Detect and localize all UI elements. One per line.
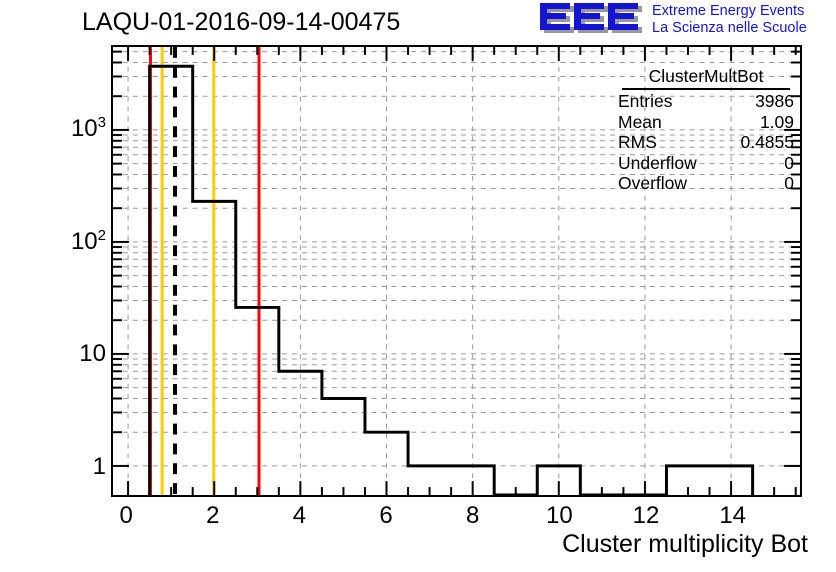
eee-logo-line1: Extreme Energy Events — [652, 3, 807, 20]
eee-logo-line2: La Scienza nelle Scuole — [652, 20, 807, 37]
stats-row-value: 0 — [784, 153, 794, 174]
root-canvas: LAQU-01-2016-09-14-00475 Extreme Energy … — [0, 0, 836, 572]
x-tick-label-2: 2 — [206, 502, 219, 530]
stats-row-key: Mean — [618, 112, 662, 133]
x-tick-label-14: 14 — [719, 502, 746, 530]
x-axis-title: Cluster multiplicity Bot — [562, 530, 808, 559]
stats-box: ClusterMultBot Entries3986Mean1.09RMS0.4… — [616, 66, 796, 194]
stats-row-underflow: Underflow0 — [616, 153, 796, 174]
stats-row-mean: Mean1.09 — [616, 112, 796, 133]
stats-box-title: ClusterMultBot — [622, 66, 790, 90]
stats-row-key: Entries — [618, 91, 672, 112]
stats-row-value: 1.09 — [760, 112, 794, 133]
y-tick-label-2: 102 — [71, 227, 106, 256]
stats-row-key: Underflow — [618, 153, 697, 174]
eee-logo: Extreme Energy Events La Scienza nelle S… — [536, 2, 834, 38]
y-axis-tick-labels: 110102103 — [18, 0, 106, 572]
x-tick-label-6: 6 — [379, 502, 392, 530]
x-tick-label-8: 8 — [466, 502, 479, 530]
stats-row-key: RMS — [618, 132, 657, 153]
y-tick-label-3: 103 — [71, 114, 106, 143]
x-tick-label-10: 10 — [546, 502, 573, 530]
x-tick-label-4: 4 — [293, 502, 306, 530]
y-tick-label-1: 10 — [79, 340, 106, 368]
y-tick-label-0: 1 — [93, 453, 106, 481]
stats-row-rms: RMS0.4855 — [616, 132, 796, 153]
stats-box-rows: Entries3986Mean1.09RMS0.4855Underflow0Ov… — [616, 91, 796, 194]
stats-row-value: 0 — [784, 173, 794, 194]
eee-logo-letters-icon — [536, 2, 646, 36]
page-title: LAQU-01-2016-09-14-00475 — [82, 8, 400, 37]
x-tick-label-12: 12 — [633, 502, 660, 530]
stats-row-value: 3986 — [755, 91, 794, 112]
stats-row-overflow: Overflow0 — [616, 173, 796, 194]
eee-logo-text: Extreme Energy Events La Scienza nelle S… — [652, 3, 807, 37]
stats-row-value: 0.4855 — [740, 132, 794, 153]
x-tick-label-0: 0 — [119, 502, 132, 530]
stats-row-key: Overflow — [618, 173, 687, 194]
stats-row-entries: Entries3986 — [616, 91, 796, 112]
